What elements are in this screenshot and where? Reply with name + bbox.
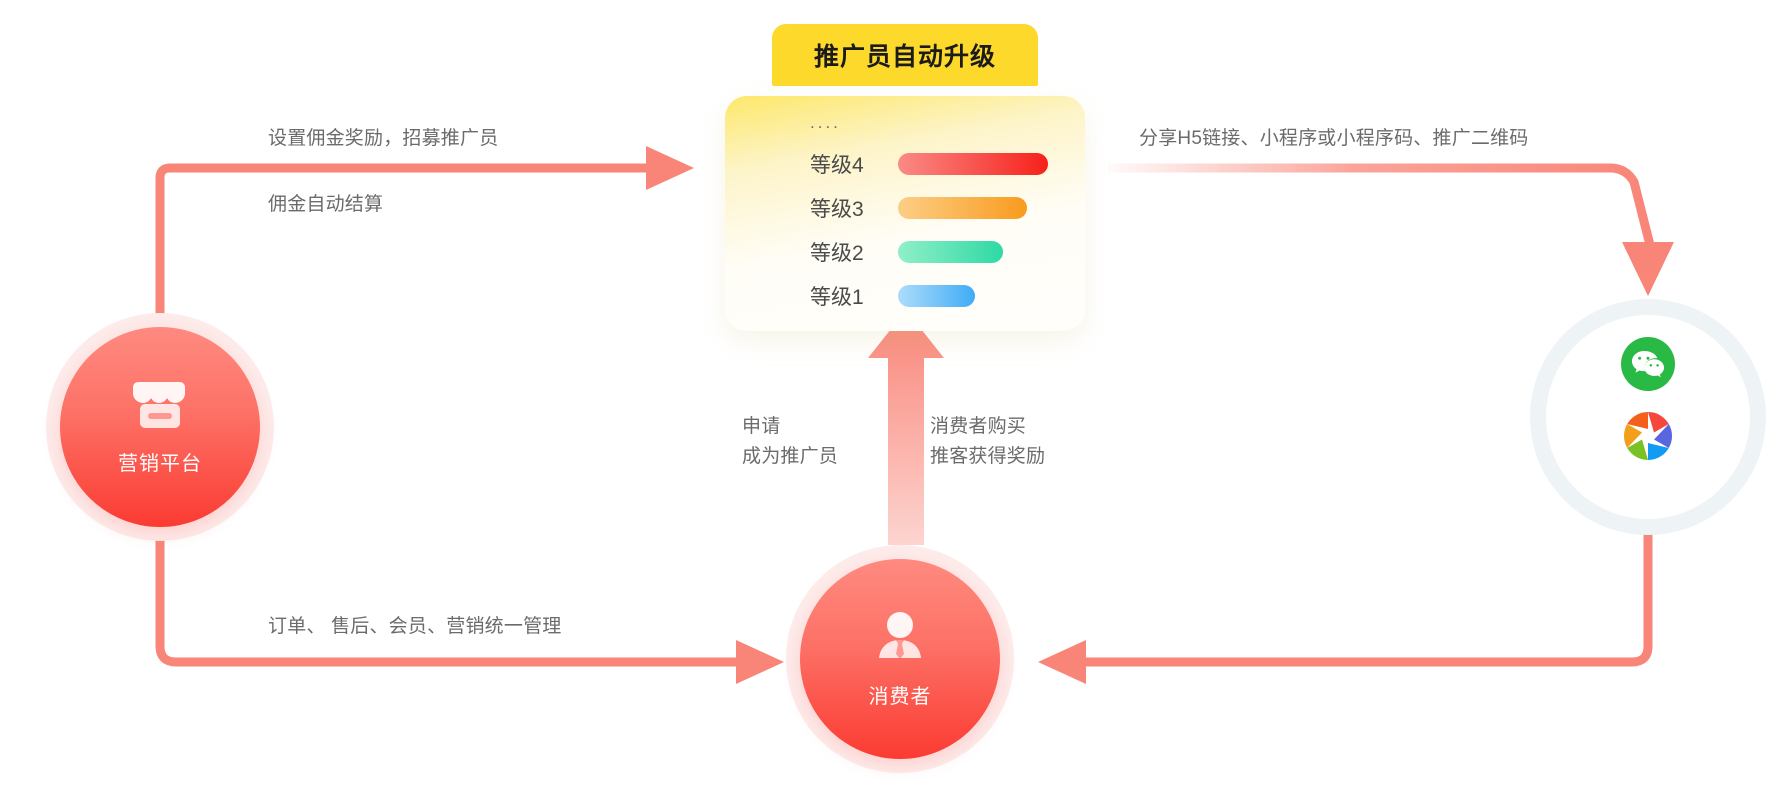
platform-node-label: 营销平台 <box>118 447 202 476</box>
edge-label-purchase-line1: 消费者购买 <box>930 412 1045 442</box>
edge-label-apply-line1: 申请 <box>742 412 838 442</box>
edge-label-commission-settlement: 佣金自动结算 <box>268 190 383 220</box>
platform-node[interactable]: 营销平台 <box>60 327 260 527</box>
level-label: 等级1 <box>810 281 884 311</box>
level-label: 等级4 <box>810 149 884 179</box>
level-label: 等级2 <box>810 237 884 267</box>
card-banner-label: 推广员自动升级 <box>814 37 996 73</box>
level-bar-2 <box>898 241 1003 263</box>
level-label: 等级3 <box>810 193 884 223</box>
edge-label-purchase-reward: 消费者购买 推客获得奖励 <box>930 412 1045 472</box>
list-item: 等级3 <box>810 186 1048 230</box>
level-card: 等级4 等级3 等级2 等级1 <box>725 96 1085 331</box>
channels-node[interactable] <box>1621 337 1675 463</box>
consumer-node[interactable]: 消费者 <box>800 559 1000 759</box>
level-bar-4 <box>898 153 1048 175</box>
edge-channels-to-consumer <box>1038 530 1648 684</box>
edge-label-purchase-line2: 推客获得奖励 <box>930 442 1045 472</box>
store-icon <box>131 378 189 437</box>
level-list: 等级4 等级3 等级2 等级1 <box>810 142 1048 318</box>
edge-card-to-channels <box>1112 168 1674 296</box>
person-icon <box>872 609 928 670</box>
edge-platform-to-card <box>160 146 694 348</box>
list-item: 等级2 <box>810 230 1048 274</box>
list-item: 等级1 <box>810 274 1048 318</box>
list-item: 等级4 <box>810 142 1048 186</box>
edge-label-platform-to-card: 设置佣金奖励，招募推广员 <box>268 124 498 154</box>
card-banner: 推广员自动升级 <box>772 24 1038 86</box>
edge-label-apply-line2: 成为推广员 <box>742 442 838 472</box>
edge-label-apply-promoter: 申请 成为推广员 <box>742 412 838 472</box>
wechat-icon[interactable] <box>1621 337 1675 391</box>
edge-label-card-to-channels: 分享H5链接、小程序或小程序码、推广二维码 <box>1139 124 1529 154</box>
edge-label-platform-to-consumer: 订单、 售后、会员、营销统一管理 <box>268 612 561 642</box>
level-bar-1 <box>898 285 975 307</box>
consumer-node-label: 消费者 <box>869 680 932 709</box>
diagram-canvas: 营销平台 消费者 <box>0 0 1777 801</box>
card-ellipsis: .... <box>810 118 841 128</box>
wechat-miniprogram-icon[interactable] <box>1621 409 1675 463</box>
level-bar-3 <box>898 197 1027 219</box>
